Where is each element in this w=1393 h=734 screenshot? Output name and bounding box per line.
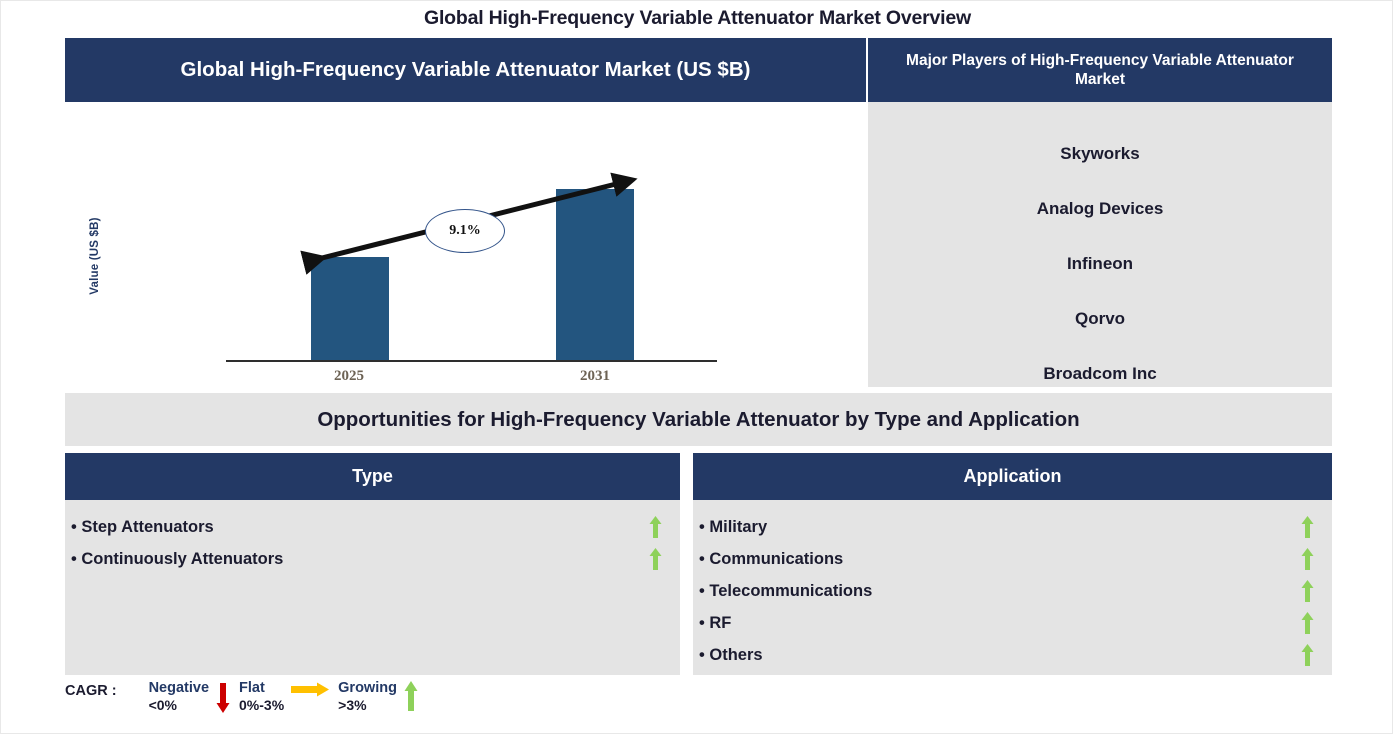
arrow-up-icon bbox=[1301, 644, 1314, 666]
type-panel: Type • Step Attenuators • Continuously A… bbox=[65, 453, 680, 675]
chart-panel-header: Global High-Frequency Variable Attenuato… bbox=[65, 38, 866, 102]
list-item: Analog Devices bbox=[868, 199, 1332, 219]
application-item-label: • Communications bbox=[699, 550, 843, 569]
legend-range: <0% bbox=[149, 697, 209, 714]
opportunities-banner: Opportunities for High-Frequency Variabl… bbox=[65, 393, 1332, 446]
list-item: Qorvo bbox=[868, 309, 1332, 329]
major-players-panel: Major Players of High-Frequency Variable… bbox=[868, 38, 1332, 387]
list-item: • RF bbox=[693, 607, 1332, 639]
type-item-label: • Step Attenuators bbox=[71, 518, 214, 537]
application-list: • Military • Communications • Telecommun… bbox=[693, 500, 1332, 671]
application-header-label: Application bbox=[964, 466, 1062, 487]
list-item: Broadcom Inc bbox=[868, 364, 1332, 384]
list-item: • Others bbox=[693, 639, 1332, 671]
list-item: • Military bbox=[693, 511, 1332, 543]
legend-item-flat: Flat 0%-3% bbox=[239, 680, 329, 714]
type-list: • Step Attenuators • Continuously Attenu… bbox=[65, 500, 680, 575]
cagr-legend: CAGR : Negative <0% Flat 0%-3% Growing >… bbox=[65, 680, 585, 726]
list-item: Skyworks bbox=[868, 144, 1332, 164]
application-item-label: • Others bbox=[699, 646, 763, 665]
arrow-up-icon bbox=[1301, 548, 1314, 570]
major-players-list: Skyworks Analog Devices Infineon Qorvo B… bbox=[868, 102, 1332, 387]
cagr-value: 9.1% bbox=[449, 223, 481, 239]
page-title: Global High-Frequency Variable Attenuato… bbox=[1, 7, 1393, 30]
type-panel-header: Type bbox=[65, 453, 680, 500]
legend-range: >3% bbox=[338, 697, 397, 714]
cagr-value-bubble: 9.1% bbox=[425, 209, 505, 253]
legend-name: Growing bbox=[338, 680, 397, 697]
x-tick-2031: 2031 bbox=[535, 368, 655, 385]
legend-range: 0%-3% bbox=[239, 697, 284, 714]
chart-panel-title: Global High-Frequency Variable Attenuato… bbox=[181, 58, 751, 82]
arrow-up-icon bbox=[404, 681, 418, 713]
infographic-root: Global High-Frequency Variable Attenuato… bbox=[0, 0, 1393, 734]
application-item-label: • Telecommunications bbox=[699, 582, 872, 601]
arrow-down-icon bbox=[216, 681, 230, 713]
legend-item-growing: Growing >3% bbox=[338, 680, 418, 714]
major-players-header: Major Players of High-Frequency Variable… bbox=[868, 38, 1332, 102]
legend-name: Flat bbox=[239, 680, 284, 697]
arrow-right-icon bbox=[291, 681, 329, 703]
list-item: • Telecommunications bbox=[693, 575, 1332, 607]
application-item-label: • RF bbox=[699, 614, 731, 633]
list-item: Infineon bbox=[868, 254, 1332, 274]
arrow-up-icon bbox=[1301, 612, 1314, 634]
x-tick-2025: 2025 bbox=[289, 368, 409, 385]
list-item: • Communications bbox=[693, 543, 1332, 575]
application-panel: Application • Military • Communications … bbox=[693, 453, 1332, 675]
arrow-up-icon bbox=[649, 516, 662, 538]
arrow-up-icon bbox=[649, 548, 662, 570]
y-axis-label: Value (US $B) bbox=[89, 196, 101, 316]
legend-name: Negative bbox=[149, 680, 209, 697]
opportunities-banner-text: Opportunities for High-Frequency Variabl… bbox=[317, 408, 1079, 432]
type-item-label: • Continuously Attenuators bbox=[71, 550, 283, 569]
type-header-label: Type bbox=[352, 466, 393, 487]
list-item: • Continuously Attenuators bbox=[65, 543, 680, 575]
application-panel-header: Application bbox=[693, 453, 1332, 500]
chart-plot-area: Value (US $B) 9.1% 2025 2031 Source : Lu… bbox=[65, 102, 866, 387]
application-item-label: • Military bbox=[699, 518, 767, 537]
legend-item-negative: Negative <0% bbox=[149, 680, 230, 714]
arrow-up-icon bbox=[1301, 516, 1314, 538]
major-players-title: Major Players of High-Frequency Variable… bbox=[882, 51, 1318, 90]
list-item: • Step Attenuators bbox=[65, 511, 680, 543]
cagr-legend-title: CAGR : bbox=[65, 680, 117, 699]
market-chart-panel: Global High-Frequency Variable Attenuato… bbox=[65, 38, 866, 387]
arrow-up-icon bbox=[1301, 580, 1314, 602]
